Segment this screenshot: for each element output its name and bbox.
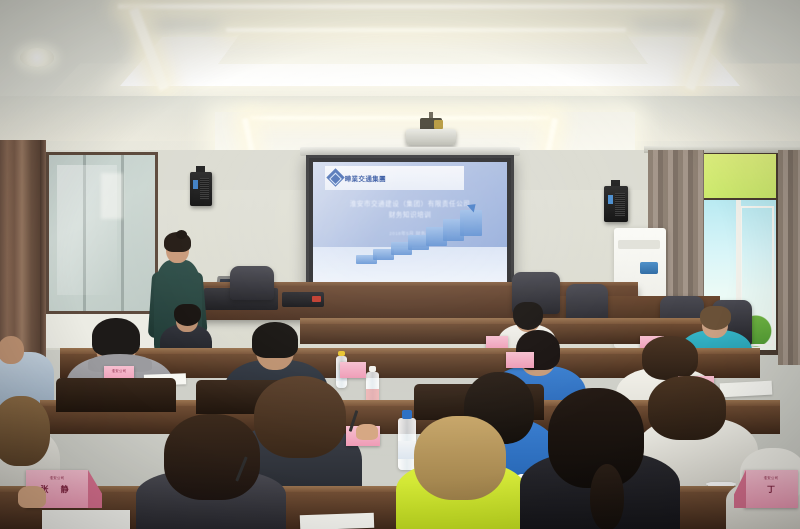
audience-hair	[174, 304, 201, 326]
desk-row-4-lip	[300, 318, 720, 324]
bottle-cap	[369, 366, 376, 372]
cove-light-strip-lower	[250, 116, 550, 120]
audience-hair	[642, 336, 698, 380]
slide-header-bar: 曄業交通集團	[325, 166, 465, 190]
name-card-r3-mid	[340, 362, 366, 378]
console-red-indicator	[312, 296, 321, 302]
bottle-cap	[402, 410, 412, 419]
name-card-header: 淮安公司	[30, 475, 85, 481]
speaker-right-indicator	[608, 195, 613, 204]
window-transom-foliage	[704, 154, 776, 198]
name-card-header: 淮安公司	[747, 475, 795, 481]
audience-hair	[700, 306, 731, 330]
paper-handout-2	[720, 381, 773, 398]
name-card-header: 淮安公司	[106, 368, 132, 371]
ac-top-vent	[618, 240, 660, 249]
hand-writing-2	[18, 486, 46, 508]
projection-screen[interactable]: 曄業交通集團 淮安市交通建设（集团）有限责任公司 财务知识培训 2018年5月 …	[306, 155, 514, 290]
presenter-hair-bun	[176, 230, 187, 239]
downlight-1	[20, 48, 54, 67]
audience-hair	[252, 322, 298, 358]
seat-back-2a[interactable]	[56, 378, 176, 412]
audience-head	[0, 336, 24, 364]
projector-body	[406, 129, 456, 145]
bottle-cap	[338, 351, 344, 356]
cove-light-strip-inner	[226, 28, 626, 32]
audience-hair	[648, 376, 726, 440]
audience-ponytail	[590, 464, 624, 529]
projection-screen-surface: 曄業交通集團 淮安市交通建设（集团）有限责任公司 财务知识培训 2018年5月 …	[313, 162, 507, 283]
curtain-right-panel[interactable]	[778, 150, 800, 365]
wall-speaker-right	[604, 186, 628, 222]
audience-hair	[414, 416, 506, 500]
glass-sheen	[57, 165, 117, 295]
front-chair-1[interactable]	[230, 266, 274, 300]
ac-display-panel[interactable]	[640, 262, 658, 274]
wall-speaker-left	[190, 172, 212, 206]
ceiling-soffit-inner	[218, 32, 648, 64]
audience-hair	[92, 318, 140, 356]
projector	[404, 118, 458, 146]
audience-hair	[0, 396, 50, 466]
conference-room-photo: 曄業交通集團 淮安市交通建设（集团）有限责任公司 财务知识培训 2018年5月 …	[0, 0, 800, 529]
name-card-r3-right	[506, 352, 534, 368]
cove-light-strip-top	[118, 4, 724, 9]
speaker-right-grille	[615, 193, 625, 216]
name-card-name: 丁	[747, 484, 795, 495]
audience-hair	[513, 302, 543, 330]
name-card-front-right: 淮安公司 丁	[744, 470, 798, 508]
slide-logo-text: 曄業交通集團	[345, 173, 386, 183]
slide-bar-7	[460, 210, 481, 235]
frosted-glass-partition	[46, 152, 158, 314]
paper-handout-4	[300, 513, 374, 529]
speaker-left-grille	[200, 178, 209, 200]
paper-handout-3	[42, 510, 130, 529]
audience-hair	[254, 376, 346, 458]
speaker-left-indicator	[193, 180, 198, 189]
projector-detail	[434, 120, 443, 129]
hand-writing-1	[356, 424, 378, 440]
diamond-logo-icon	[326, 169, 344, 187]
